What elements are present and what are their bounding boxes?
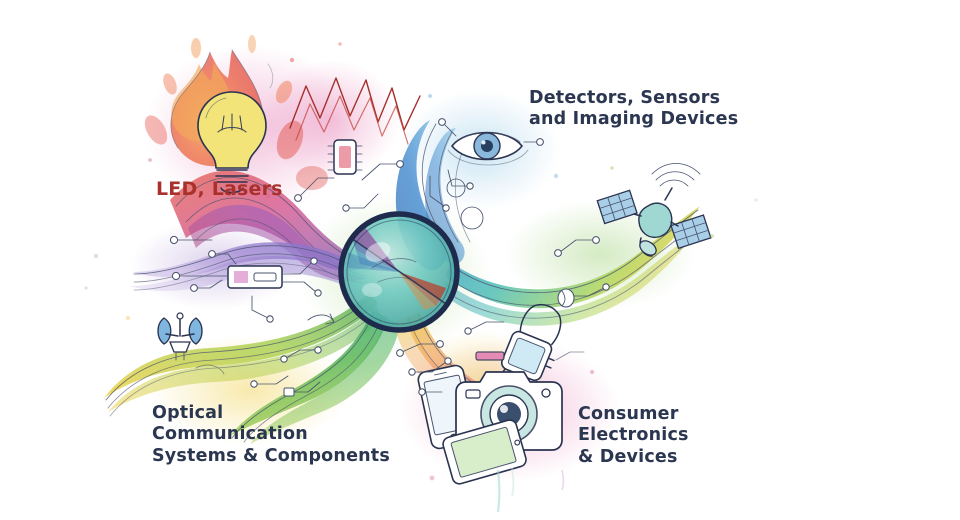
label-detectors-sensors: Detectors, Sensors and Imaging Devices — [529, 88, 738, 131]
label-consumer-electronics: Consumer Electronics & Devices — [578, 404, 689, 468]
watercolor-illustration: .ink{fill:none;stroke:#2a3350;stroke-wid… — [0, 0, 960, 520]
label-led-lasers: LED, Lasers — [156, 178, 283, 201]
chip-module-icon — [228, 266, 282, 288]
label-optical-communication: Optical Communication Systems & Componen… — [152, 403, 390, 467]
infographic-canvas: .ink{fill:none;stroke:#2a3350;stroke-wid… — [0, 0, 960, 520]
central-compass-hub — [341, 214, 457, 330]
